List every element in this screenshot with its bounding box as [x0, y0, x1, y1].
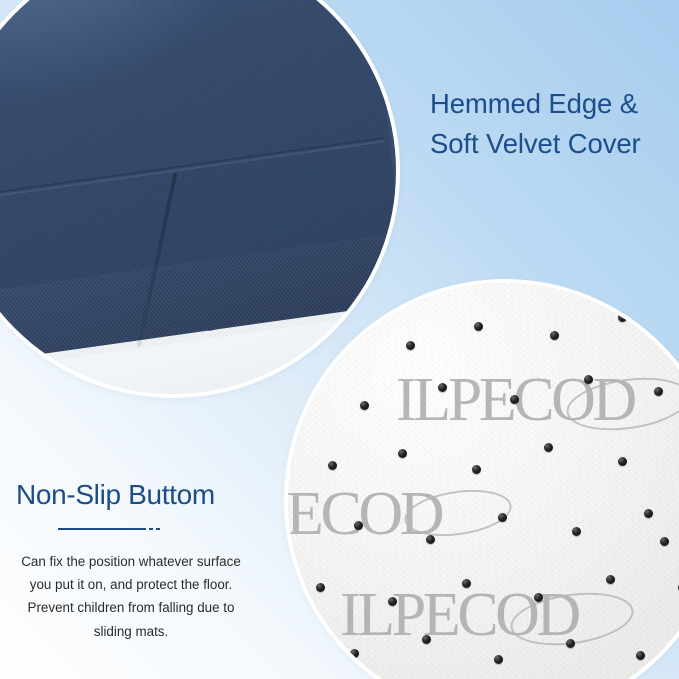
feature-body-line: sliding mats. — [8, 620, 254, 643]
silicone-dot — [406, 341, 415, 350]
silicone-dot — [438, 383, 447, 392]
silicone-dot — [618, 313, 627, 322]
silicone-dot — [474, 322, 483, 331]
silicone-dot — [426, 535, 435, 544]
silicone-dot — [606, 575, 615, 584]
silicone-dot — [498, 513, 507, 522]
feature-body-line: Prevent children from falling due to — [8, 596, 254, 619]
silicone-dot — [544, 443, 553, 452]
silicone-dot — [350, 649, 359, 658]
feature-body-line: Can fix the position whatever surface — [8, 550, 254, 573]
feature-description: Can fix the position whatever surface yo… — [0, 550, 262, 643]
silicone-dot — [494, 655, 503, 664]
divider-dash-2 — [156, 528, 160, 530]
title-divider — [58, 528, 262, 530]
silicone-dot — [316, 583, 325, 592]
silicone-dot — [328, 461, 337, 470]
silicone-dot — [388, 597, 397, 606]
silicone-dot — [654, 387, 663, 396]
silicone-dot — [462, 579, 471, 588]
divider-dash-1 — [149, 528, 153, 530]
silicone-dot — [660, 537, 669, 546]
silicone-dot — [618, 457, 627, 466]
silicone-dot — [360, 401, 369, 410]
silicone-dot — [422, 635, 431, 644]
feature-body-line: you put it on, and protect the floor. — [8, 573, 254, 596]
brand-watermark: ILPECOD — [340, 580, 578, 651]
headline-line-2: Soft Velvet Cover — [430, 124, 679, 164]
silicone-dot — [584, 375, 593, 384]
silicone-dot — [550, 331, 559, 340]
brand-watermark: ECOD — [288, 479, 441, 550]
silicone-dot — [572, 527, 581, 536]
silicone-dot — [534, 593, 543, 602]
silicone-dot — [510, 395, 519, 404]
feature-title: Non-Slip Buttom — [4, 478, 262, 512]
photo-nonslip-bottom-closeup: ILPECOD ECOD ILPECOD — [288, 283, 679, 679]
headline-hemmed-edge: Hemmed Edge & Soft Velvet Cover — [430, 84, 679, 163]
silicone-dot — [354, 521, 363, 530]
silicone-dot — [472, 465, 481, 474]
silicone-dot — [566, 639, 575, 648]
silicone-dot — [398, 449, 407, 458]
feature-block-nonslip: Non-Slip Buttom Can fix the position wha… — [0, 478, 262, 643]
divider-line — [58, 528, 146, 530]
silicone-dot — [644, 509, 653, 518]
silicone-dot — [636, 651, 645, 660]
product-feature-infographic: ILPECOD ECOD ILPECOD Hemmed Edge & Soft … — [0, 0, 679, 679]
headline-line-1: Hemmed Edge & — [430, 84, 679, 124]
nonslip-mat-surface: ILPECOD ECOD ILPECOD — [288, 283, 679, 679]
